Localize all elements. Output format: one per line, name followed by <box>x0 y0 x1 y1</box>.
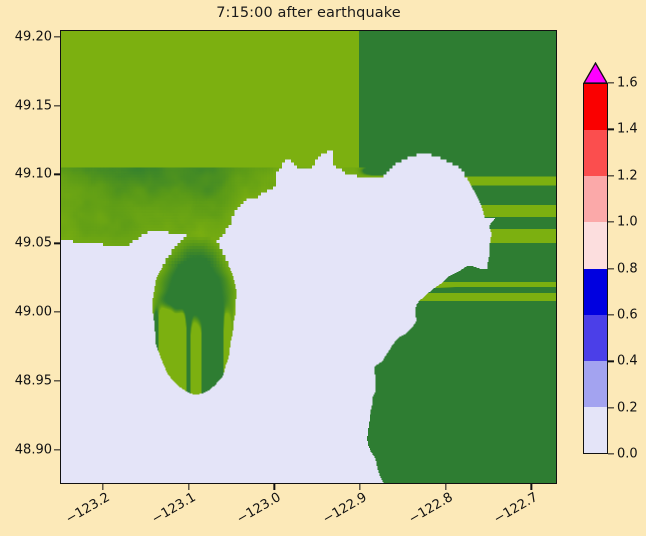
y-axis-tick-mark <box>54 105 60 106</box>
x-axis-tick-label: −122.9 <box>313 490 369 531</box>
x-axis-tick-mark <box>531 484 532 490</box>
colorbar-bands <box>583 83 608 454</box>
x-axis-tick-mark <box>188 484 189 490</box>
colorbar-tick-mark <box>608 82 614 83</box>
colorbar-tick-mark <box>608 361 614 362</box>
colorbar-band <box>584 315 607 361</box>
colorbar-band <box>584 361 607 407</box>
colorbar-tick-label: 1.0 <box>617 215 638 230</box>
x-axis-tick-mark <box>359 484 360 490</box>
colorbar-tick-label: 1.4 <box>617 122 638 137</box>
y-axis-tick-mark <box>54 449 60 450</box>
colorbar-tick-mark <box>608 268 614 269</box>
colorbar-band <box>584 407 607 453</box>
y-axis-tick-labels: 48.9048.9549.0049.0549.1049.1549.20 <box>0 0 52 536</box>
colorbar-tick-mark <box>608 129 614 130</box>
y-axis-tick-mark <box>54 243 60 244</box>
colorbar-band <box>584 176 607 222</box>
colorbar-band <box>584 269 607 315</box>
colorbar-band <box>584 84 607 130</box>
terrain-heatmap <box>61 31 556 483</box>
y-axis-tick-label: 49.10 <box>15 167 52 182</box>
y-axis-tick-label: 48.95 <box>15 373 52 388</box>
colorbar-tick-mark <box>608 175 614 176</box>
x-axis-tick-label: −123.0 <box>228 490 284 531</box>
colorbar-tick-mark <box>608 221 614 222</box>
x-axis-tick-mark <box>445 484 446 490</box>
colorbar[interactable] <box>583 62 608 454</box>
y-axis-tick-mark <box>54 174 60 175</box>
colorbar-tick-label: 0.0 <box>617 447 638 462</box>
y-axis-tick-label: 49.00 <box>15 305 52 320</box>
x-axis-tick-label: −123.1 <box>142 490 198 531</box>
page-title: 7:15:00 after earthquake <box>60 5 557 21</box>
y-axis-tick-label: 48.90 <box>15 442 52 457</box>
y-axis-tick-label: 49.05 <box>15 236 52 251</box>
map-axes[interactable] <box>60 30 557 484</box>
colorbar-tick-label: 0.6 <box>617 307 638 322</box>
colorbar-tick-label: 1.2 <box>617 168 638 183</box>
colorbar-tick-label: 0.2 <box>617 400 638 415</box>
x-axis-tick-mark <box>102 484 103 490</box>
figure-canvas: 7:15:00 after earthquake 48.9048.9549.00… <box>0 0 646 536</box>
y-axis-tick-mark <box>54 311 60 312</box>
y-axis-tick-label: 49.15 <box>15 98 52 113</box>
colorbar-band <box>584 222 607 268</box>
y-axis-tick-mark <box>54 36 60 37</box>
colorbar-tick-label: 0.4 <box>617 354 638 369</box>
colorbar-tick-mark <box>608 407 614 408</box>
x-axis-tick-label: −122.7 <box>485 490 541 531</box>
colorbar-over-arrow-icon <box>583 62 608 84</box>
y-axis-tick-label: 49.20 <box>15 29 52 44</box>
colorbar-tick-mark <box>608 453 614 454</box>
y-axis-tick-mark <box>54 380 60 381</box>
x-axis-tick-label: −123.2 <box>56 490 112 531</box>
colorbar-tick-mark <box>608 314 614 315</box>
colorbar-band <box>584 130 607 176</box>
colorbar-tick-label: 1.6 <box>617 76 638 91</box>
colorbar-tick-label: 0.8 <box>617 261 638 276</box>
x-axis-tick-label: −122.8 <box>399 490 455 531</box>
x-axis-tick-mark <box>274 484 275 490</box>
